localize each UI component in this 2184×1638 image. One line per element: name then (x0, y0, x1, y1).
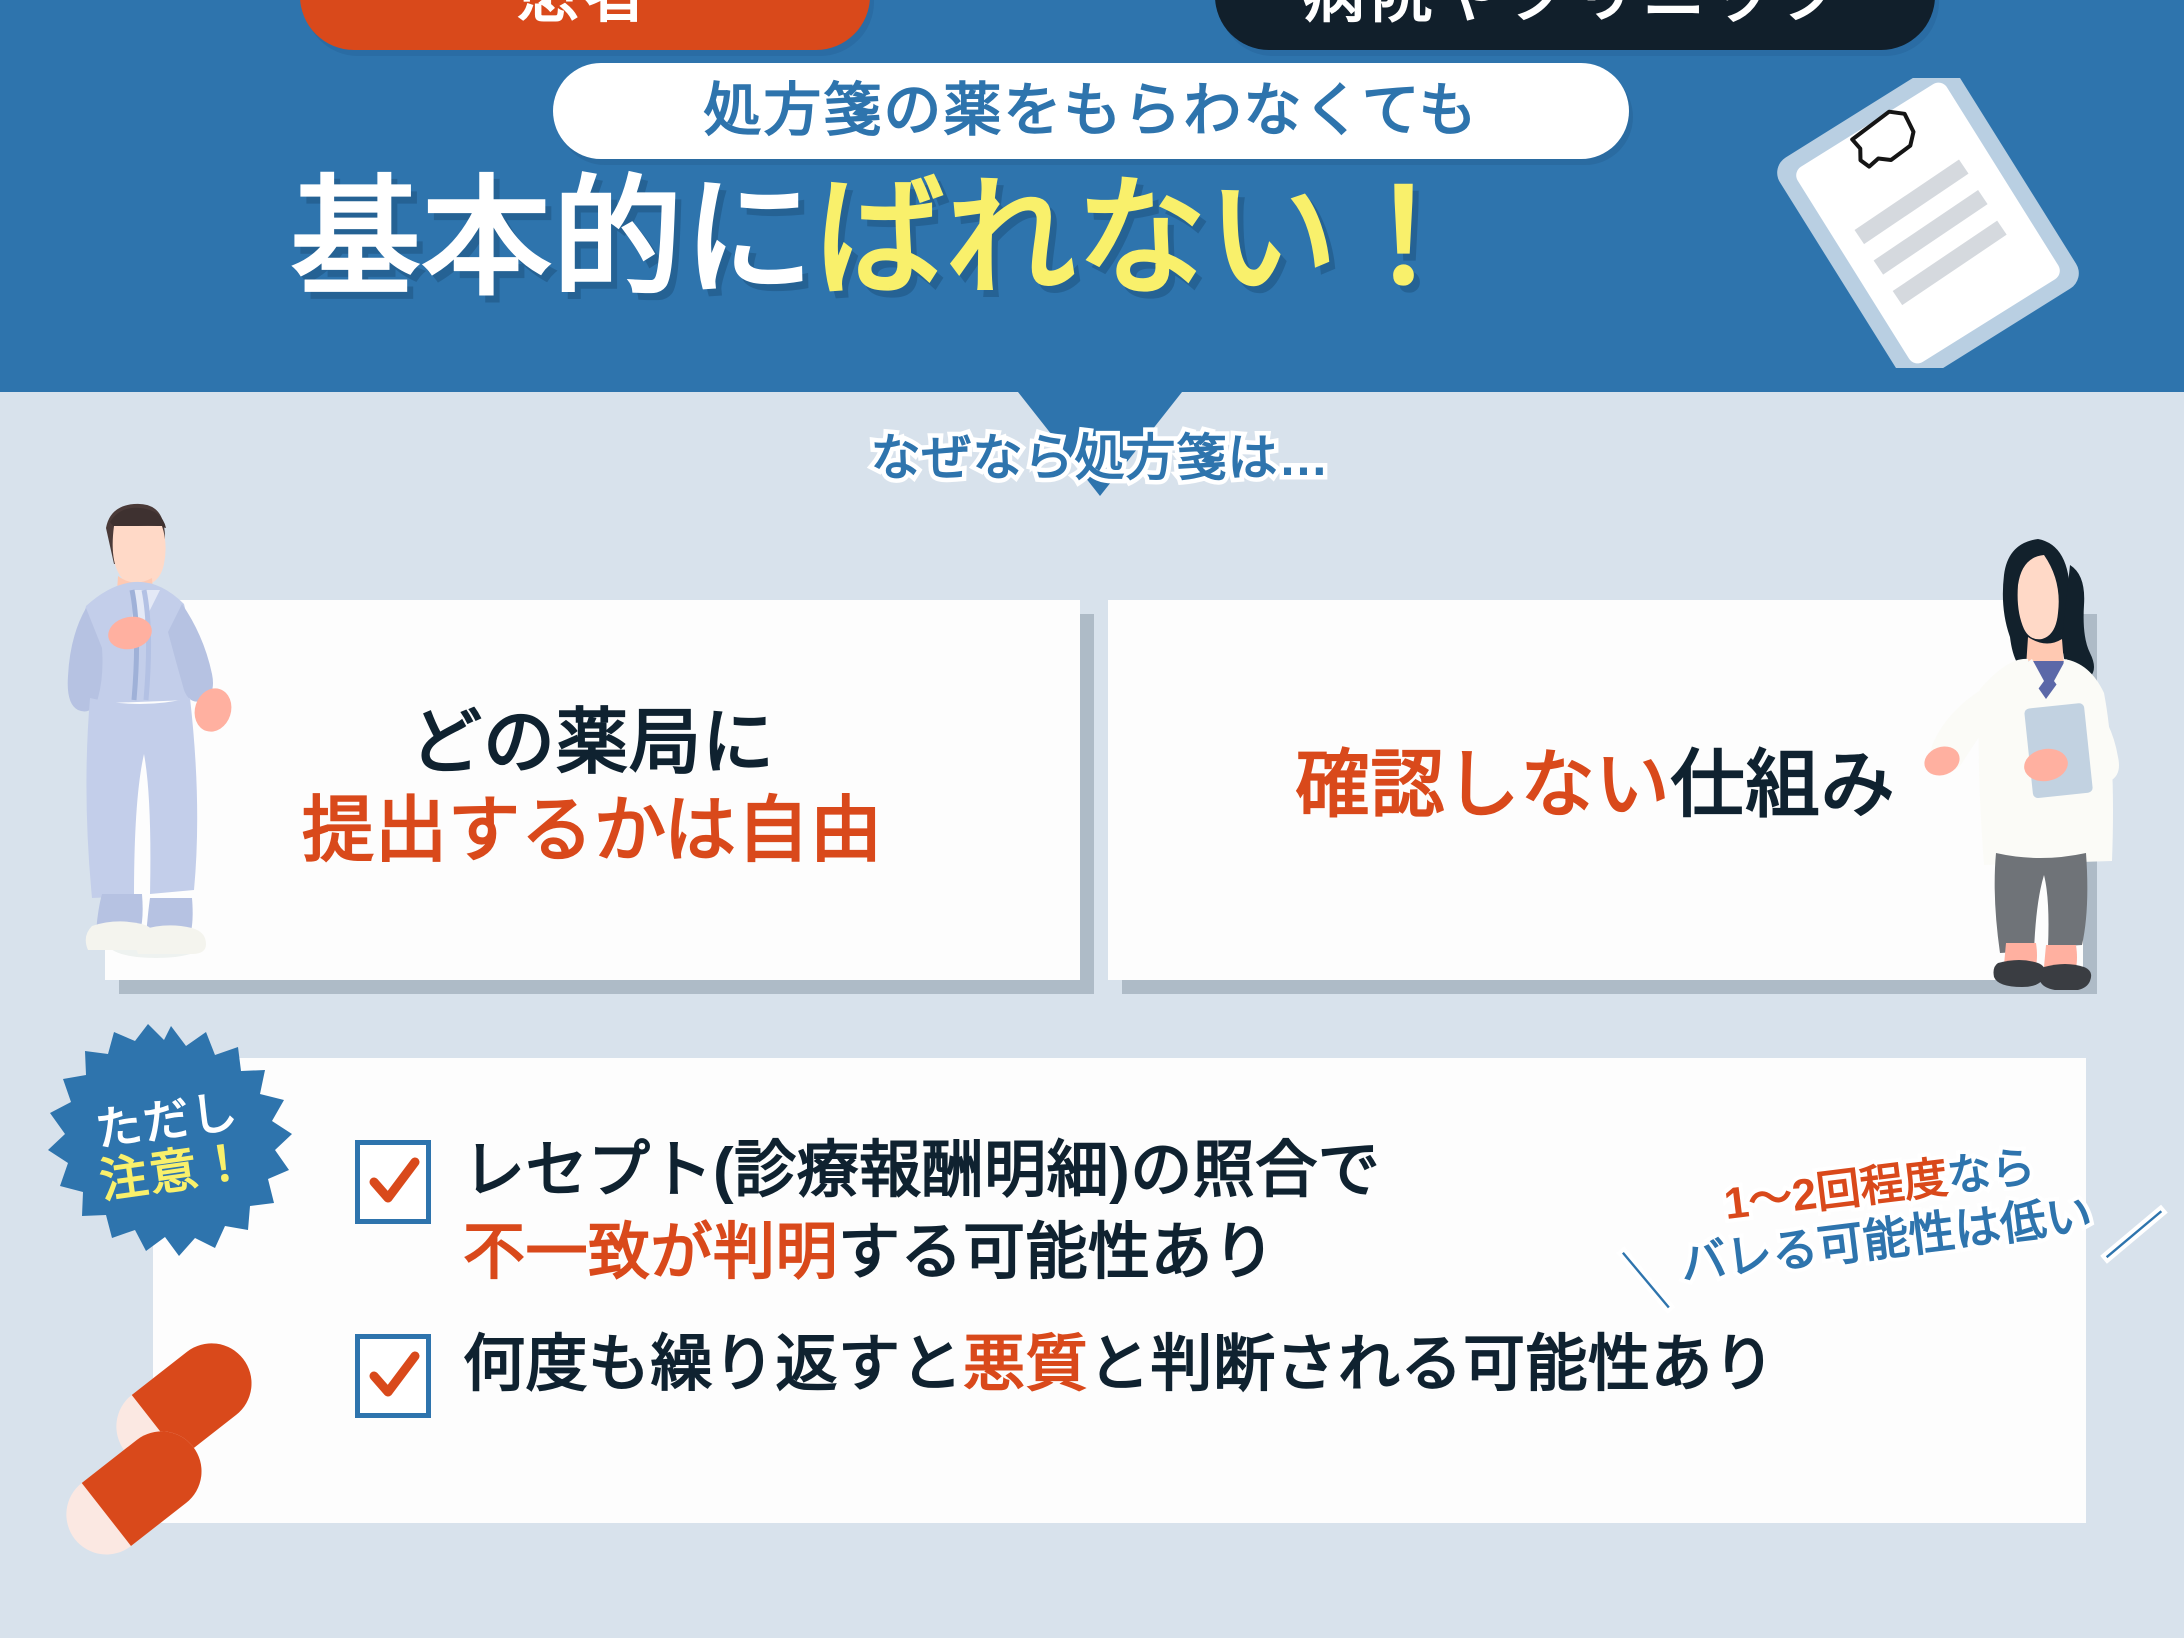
check-icon[interactable] (355, 1334, 431, 1418)
caution-item-line2-rest: する可能性あり (838, 1218, 1276, 1287)
caution-item-highlight: 悪質 (963, 1330, 1088, 1399)
card-clinic-badge: 病院やクリニック (1215, 0, 1935, 50)
card-patient-badge: 患者 (300, 0, 870, 50)
caution-item-line2: 不一致が判明する可能性あり (463, 1212, 1380, 1294)
check-icon[interactable] (355, 1140, 431, 1224)
why-label: なぜなら処方箋は… (840, 418, 1360, 488)
caution-item: 何度も繰り返すと悪質と判断される可能性あり (355, 1324, 1915, 1418)
page-title: 基本的にばれない！ (0, 168, 1760, 308)
caution-item-line1-a: 何度も繰り返すと (463, 1330, 963, 1399)
clipboard-prescription-icon (1758, 78, 2098, 368)
annotation-slash-left: ＼ (1615, 1235, 1678, 1321)
caution-item-text: レセプト(診療報酬明細)の照合で 不一致が判明する可能性あり (463, 1130, 1380, 1294)
page-title-white: 基本的に (290, 165, 814, 311)
annotation-line1-blue: なら (1945, 1142, 2038, 1201)
caution-item-line1: 何度も繰り返すと悪質と判断される可能性あり (463, 1324, 1776, 1406)
header-pill: 処方箋の薬をもらわなくても (553, 63, 1629, 159)
card-clinic-rest: 仕組み (1671, 743, 1896, 826)
caution-starburst-badge (46, 1022, 296, 1272)
caution-item-highlight: 不一致が判明 (463, 1218, 838, 1287)
card-clinic-highlight: 確認しない (1296, 743, 1671, 826)
capsule-pills-icon (40, 1320, 280, 1570)
patient-in-pajamas-icon (48, 498, 258, 963)
infographic-stage: 処方箋の薬をもらわなくても 基本的にばれない！ なぜなら処方箋は… 患者 (0, 0, 2184, 1638)
card-clinic-badge-label: 病院やクリニック (1303, 0, 1847, 27)
why-label-text: なぜなら処方箋は… (871, 430, 1330, 486)
caution-item-line1-b: と判断される可能性あり (1088, 1330, 1776, 1399)
header-pill-label: 処方箋の薬をもらわなくても (703, 82, 1478, 140)
female-doctor-with-clipboard-icon (1920, 525, 2170, 990)
caution-item-line1: レセプト(診療報酬明細)の照合で (463, 1130, 1380, 1212)
caution-item-text: 何度も繰り返すと悪質と判断される可能性あり (463, 1324, 1776, 1406)
card-patient-badge-label: 患者 (517, 0, 653, 27)
page-title-yellow: ばれない！ (815, 165, 1470, 311)
annotation-slash-right: ／ (2103, 1189, 2166, 1275)
